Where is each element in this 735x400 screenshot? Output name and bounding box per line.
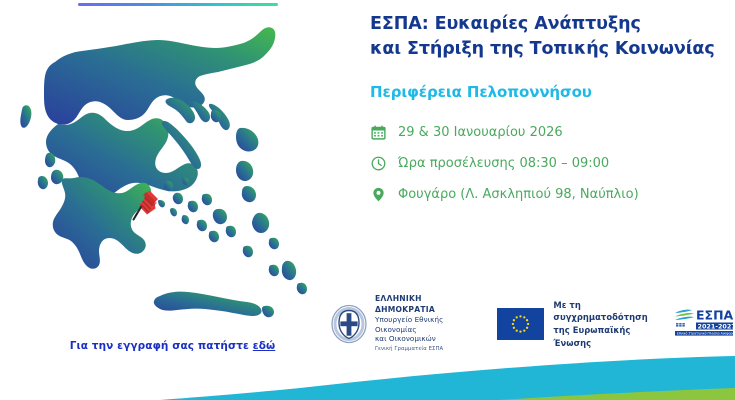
detail-row-time: Ώρα προσέλευσης 08:30 – 09:00 xyxy=(370,156,725,172)
page-subtitle: Περιφέρεια Πελοποννήσου xyxy=(370,83,725,101)
espa-wordmark: ΕΣΠΑ xyxy=(696,308,734,323)
content-column: ΕΣΠΑ: Ευκαιρίες Ανάπτυξης και Στήριξη τη… xyxy=(370,12,725,218)
registration-line: Για την εγγραφή σας πατήστε εδώ xyxy=(0,340,345,352)
registration-prefix: Για την εγγραφή σας πατήστε xyxy=(70,340,253,352)
registration-link[interactable]: εδώ xyxy=(253,340,275,352)
greece-map-svg xyxy=(0,18,345,338)
title-line-1: ΕΣΠΑ: Ευκαιρίες Ανάπτυξης xyxy=(370,14,641,34)
title-line-2: και Στήριξη της Τοπικής Κοινωνίας xyxy=(370,37,725,62)
eu-line2: της Ευρωπαϊκής Ένωσης xyxy=(553,324,653,349)
detail-text-venue: Φουγάρο (Λ. Ασκληπιού 98, Ναύπλιο) xyxy=(398,188,639,201)
bottom-wave-decoration xyxy=(0,348,735,400)
espa-swoosh-icon xyxy=(675,310,694,320)
greece-landmass xyxy=(20,27,307,317)
calendar-icon xyxy=(370,125,386,141)
eu-cofunding-logo: Με τη συγχρηματοδότηση της Ευρωπαϊκής Έν… xyxy=(497,299,653,349)
espa-tagline: Εθνικό Στρατηγικό Πλαίσιο Αναφοράς xyxy=(677,331,735,335)
detail-text-date: 29 & 30 Ιανουαρίου 2026 xyxy=(398,126,563,139)
footer-logos: ΕΛΛΗΝΙΚΗ ΔΗΜΟΚΡΑΤΙΑ Υπουργείο Εθνικής Οι… xyxy=(330,300,735,348)
wave-green xyxy=(270,378,735,400)
event-details: 29 & 30 Ιανουαρίου 2026 Ώρα προσέλευσης … xyxy=(370,125,725,203)
greece-map xyxy=(0,18,345,338)
top-gradient-rule xyxy=(78,3,278,6)
espa-period: 2021-2027 xyxy=(698,322,735,330)
eu-flag-icon xyxy=(497,308,544,340)
greek-republic-line1: ΕΛΛΗΝΙΚΗ ΔΗΜΟΚΡΑΤΙΑ xyxy=(375,294,465,315)
pushpin-icon xyxy=(130,186,164,230)
greek-republic-line4: Γενική Γραμματεία ΕΣΠΑ xyxy=(375,346,465,353)
greek-republic-line3: και Οικονομικών xyxy=(375,334,465,344)
detail-row-venue: Φουγάρο (Λ. Ασκληπιού 98, Ναύπλιο) xyxy=(370,187,725,203)
greek-republic-text: ΕΛΛΗΝΙΚΗ ΔΗΜΟΚΡΑΤΙΑ Υπουργείο Εθνικής Οι… xyxy=(375,294,465,353)
detail-text-time: Ώρα προσέλευσης 08:30 – 09:00 xyxy=(398,157,609,170)
greek-coat-of-arms-icon xyxy=(330,304,368,344)
eu-line1: Με τη συγχρηματοδότηση xyxy=(553,299,653,324)
espa-logo: ΕΣΠΑ 2021-2027 Εθνικό Στρατηγικό Πλαίσιο… xyxy=(673,305,735,343)
clock-icon xyxy=(370,156,386,172)
greek-republic-line2: Υπουργείο Εθνικής Οικονομίας xyxy=(375,315,465,334)
location-pin-icon xyxy=(370,187,386,203)
poster-canvas: Για την εγγραφή σας πατήστε εδώ ΕΣΠΑ: Ευ… xyxy=(0,0,735,400)
detail-row-date: 29 & 30 Ιανουαρίου 2026 xyxy=(370,125,725,141)
wave-cyan xyxy=(160,356,735,400)
location-marker-pin xyxy=(130,186,164,230)
eu-cofunding-text: Με τη συγχρηματοδότηση της Ευρωπαϊκής Έν… xyxy=(553,299,653,349)
greek-republic-logo: ΕΛΛΗΝΙΚΗ ΔΗΜΟΚΡΑΤΙΑ Υπουργείο Εθνικής Οι… xyxy=(330,294,465,353)
page-title: ΕΣΠΑ: Ευκαιρίες Ανάπτυξης και Στήριξη τη… xyxy=(370,12,725,63)
